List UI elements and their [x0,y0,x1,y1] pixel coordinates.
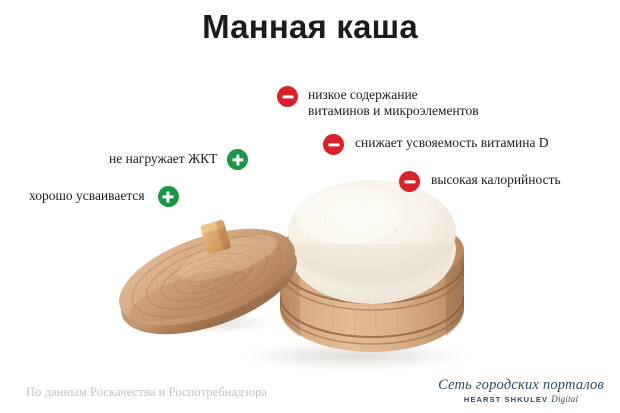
bullet-negative-1: низкое содержание витаминов и микроэлеме… [277,86,479,119]
minus-circle-icon [277,86,298,107]
plus-circle-icon [158,186,179,207]
bullet-negative-3-label: высокая калорийность [431,172,561,188]
plus-circle-icon [227,149,248,170]
logo-main-text: Сеть городских порталов [438,378,604,393]
infographic-canvas: Манная каша [0,0,620,413]
bullet-negative-3: высокая калорийность [399,171,561,192]
bullet-positive-2: хорошо усваивается [29,186,179,207]
logo-digital-text: Digital [551,394,578,404]
bullet-negative-1-label: низкое содержание витаминов и микроэлеме… [308,87,479,119]
logo-sub-text: HEARST SHKULEV Digital [438,395,604,404]
bullet-negative-2-label: снижает усвояемость витамина D [355,135,549,151]
bullet-positive-2-label: хорошо усваивается [29,188,145,204]
minus-circle-icon [399,171,420,192]
minus-circle-icon [323,134,344,155]
bullet-negative-2: снижает усвояемость витамина D [323,134,549,155]
source-note: По данным Роскачества и Роспотребнадзора [26,385,267,400]
bullet-positive-1: не нагружает ЖКТ [109,149,248,170]
bullet-positive-1-label: не нагружает ЖКТ [109,151,217,167]
logo-brand-text: HEARST SHKULEV [464,395,548,404]
page-title: Манная каша [0,8,620,46]
publisher-logo: Сеть городских порталов HEARST SHKULEV D… [438,378,604,405]
